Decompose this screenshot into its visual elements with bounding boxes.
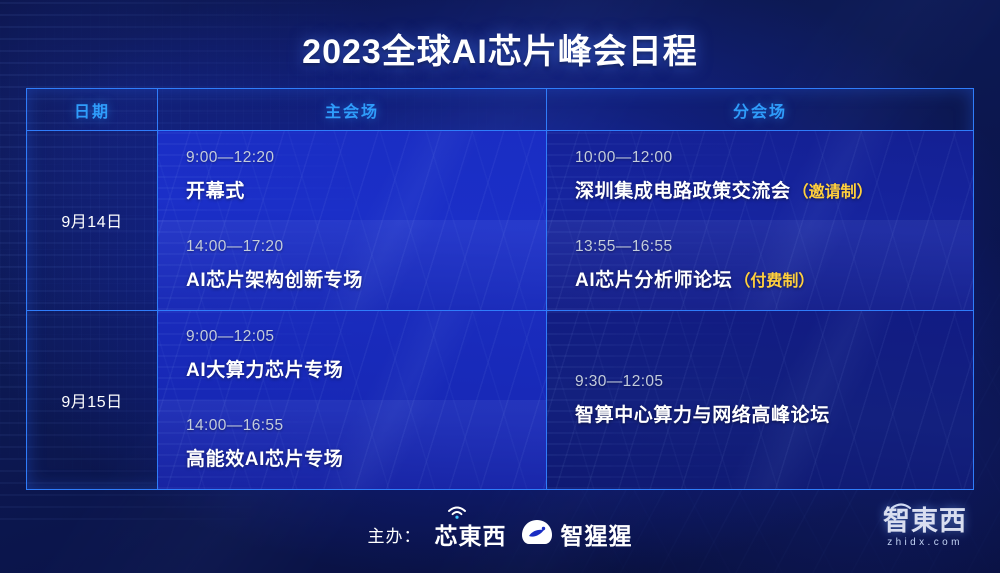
brand-xindongxi-text: 芯東西 [435, 517, 507, 551]
watermark-wifi-icon [890, 501, 912, 519]
table-row: 9月14日 9:00—12:20 开幕式 14:00—17:20 AI芯片架构创… [27, 131, 973, 311]
session-title-text: 智算中心算力与网络高峰论坛 [575, 405, 830, 426]
session-item[interactable]: 9:00—12:20 开幕式 [158, 131, 546, 220]
watermark-zhidx: 智東西 zhidx.com [862, 506, 988, 548]
session-title: AI大算力芯片专场 [186, 355, 546, 382]
cell-sub-venue: 9:30—12:05 智算中心算力与网络高峰论坛 [547, 311, 973, 490]
session-item[interactable]: 9:30—12:05 智算中心算力与网络高峰论坛 [547, 311, 973, 490]
brand-zhixingxing-text: 智猩猩 [561, 517, 633, 551]
session-title-text: 深圳集成电路政策交流会 [575, 181, 791, 202]
session-title-text: 高能效AI芯片专场 [186, 449, 343, 470]
session-time: 13:55—16:55 [575, 238, 973, 256]
slide-canvas: 2023全球AI芯片峰会日程 日期 主会场 分会场 9月14日 9:00—12:… [0, 0, 1000, 573]
column-header-main-venue: 主会场 [158, 89, 547, 130]
cell-main-venue: 9:00—12:20 开幕式 14:00—17:20 AI芯片架构创新专场 [158, 131, 547, 310]
session-title: AI芯片分析师论坛（付费制） [575, 265, 973, 292]
session-tag: （邀请制） [793, 184, 873, 201]
session-item[interactable]: 9:00—12:05 AI大算力芯片专场 [158, 311, 546, 400]
session-item[interactable]: 14:00—17:20 AI芯片架构创新专场 [158, 220, 546, 309]
schedule-table: 日期 主会场 分会场 9月14日 9:00—12:20 开幕式 14:00—17… [26, 88, 974, 490]
session-title-text: AI芯片分析师论坛 [575, 270, 732, 291]
session-time: 9:00—12:20 [186, 149, 546, 167]
page-title: 2023全球AI芯片峰会日程 [0, 24, 1000, 73]
cell-sub-venue: 10:00—12:00 深圳集成电路政策交流会（邀请制） 13:55—16:55… [547, 131, 973, 310]
session-time: 10:00—12:00 [575, 149, 973, 167]
table-row: 9月15日 9:00—12:05 AI大算力芯片专场 14:00—16:55 高… [27, 311, 973, 490]
session-title-text: AI大算力芯片专场 [186, 360, 343, 381]
session-title: 高能效AI芯片专场 [186, 444, 546, 471]
session-time: 14:00—17:20 [186, 238, 546, 256]
table-body: 9月14日 9:00—12:20 开幕式 14:00—17:20 AI芯片架构创… [27, 131, 973, 489]
session-title-text: 开幕式 [186, 181, 245, 202]
host-label: 主办： [368, 522, 422, 547]
watermark-name: 智東西 [862, 506, 988, 536]
session-title: 智算中心算力与网络高峰论坛 [575, 400, 973, 427]
cell-date: 9月15日 [27, 311, 158, 490]
brand-xindongxi: 芯東西 [435, 517, 507, 551]
watermark-site: zhidx.com [862, 537, 988, 548]
cell-main-venue: 9:00—12:05 AI大算力芯片专场 14:00—16:55 高能效AI芯片… [158, 311, 547, 490]
session-item[interactable]: 14:00—16:55 高能效AI芯片专场 [158, 400, 546, 489]
session-time: 14:00—16:55 [186, 417, 546, 435]
session-title: 深圳集成电路政策交流会（邀请制） [575, 176, 973, 203]
ape-logo-icon [520, 519, 554, 550]
session-item[interactable]: 10:00—12:00 深圳集成电路政策交流会（邀请制） [547, 131, 973, 220]
column-header-sub-venue: 分会场 [547, 89, 973, 130]
cell-date: 9月14日 [27, 131, 158, 310]
footer-hosts: 主办： 芯東西 智猩猩 [0, 512, 1000, 556]
session-time: 9:00—12:05 [186, 328, 546, 346]
session-title: AI芯片架构创新专场 [186, 265, 546, 292]
wifi-icon [447, 506, 467, 524]
brand-zhixingxing: 智猩猩 [520, 517, 633, 551]
session-tag: （付费制） [734, 273, 814, 290]
column-header-date: 日期 [27, 89, 158, 130]
table-header-row: 日期 主会场 分会场 [27, 89, 973, 131]
session-title: 开幕式 [186, 176, 546, 203]
session-item[interactable]: 13:55—16:55 AI芯片分析师论坛（付费制） [547, 220, 973, 309]
session-time: 9:30—12:05 [575, 373, 973, 391]
session-title-text: AI芯片架构创新专场 [186, 270, 363, 291]
